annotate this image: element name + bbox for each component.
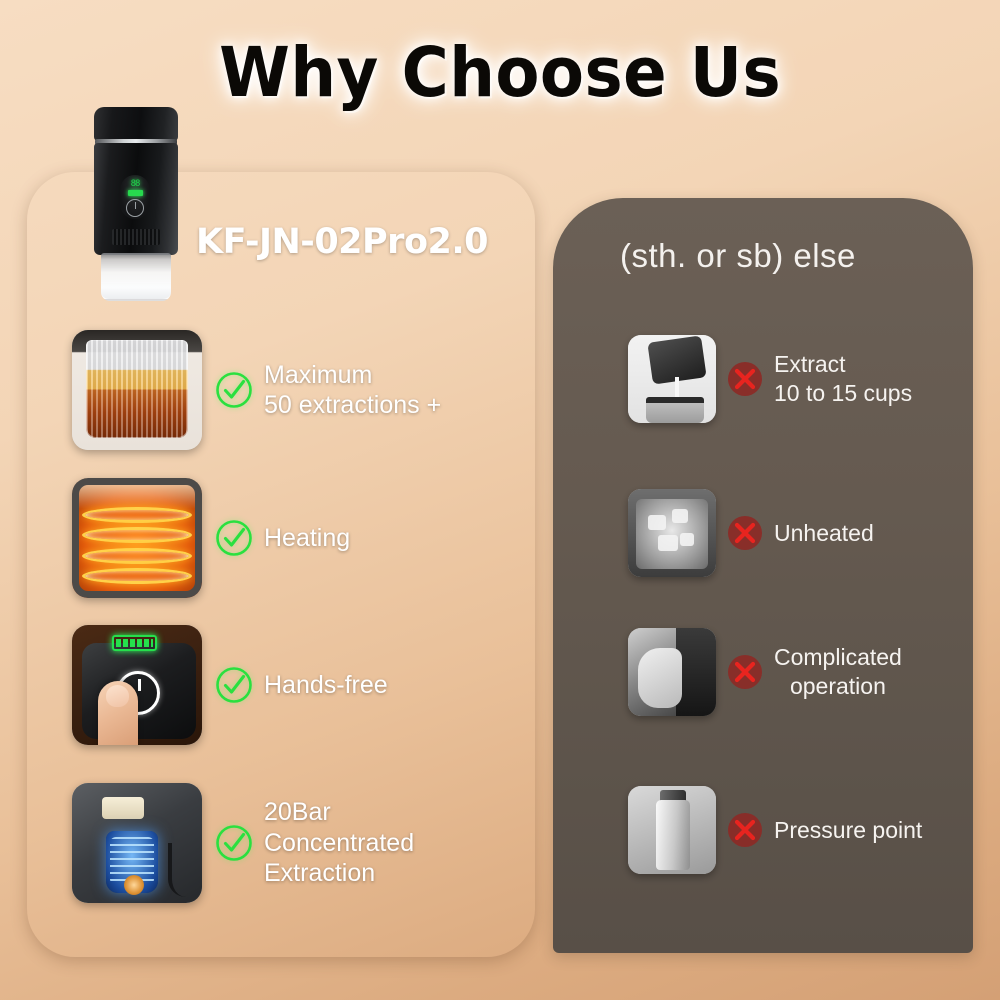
product-name: KF-JN-02Pro2.0 [196, 222, 488, 262]
page-title: Why Choose Us [0, 33, 1000, 113]
thumbnail-manual-pour-device [628, 335, 716, 423]
con-label: Complicated operation [774, 643, 902, 701]
con-label: Pressure point [774, 816, 922, 845]
thumbnail-hand-pressing-bottle [628, 786, 716, 874]
con-label-line: 10 to 15 cups [774, 379, 912, 408]
con-label-line: Unheated [774, 519, 874, 548]
thumbnail-layered-coffee-glass [72, 330, 202, 450]
con-label-line: Complicated [774, 643, 902, 672]
product-hero-image: 88 [88, 107, 184, 299]
pro-label-line: Maximum [264, 360, 441, 391]
con-label: Unheated [774, 519, 874, 548]
pro-label-line: Extraction [264, 858, 414, 889]
pro-label: 20Bar Concentrated Extraction [264, 797, 414, 889]
pro-row: Maximum 50 extractions + [72, 330, 522, 450]
cross-circle-icon [726, 514, 764, 552]
check-circle-icon [214, 665, 254, 705]
check-circle-icon [214, 518, 254, 558]
cross-circle-icon [726, 360, 764, 398]
con-row: Extract 10 to 15 cups [628, 335, 968, 423]
pro-row: 20Bar Concentrated Extraction [72, 783, 522, 903]
pro-label-line: 20Bar [264, 797, 414, 828]
con-row: Complicated operation [628, 628, 968, 716]
thumbnail-hand-operating-device [628, 628, 716, 716]
con-label-line: Pressure point [774, 816, 922, 845]
thumbnail-pressure-pump [72, 783, 202, 903]
con-label-line: operation [774, 672, 902, 701]
thumbnail-heating-coils [72, 478, 202, 598]
pro-label: Hands-free [264, 670, 388, 701]
con-row: Unheated [628, 489, 968, 577]
battery-icon [112, 635, 157, 651]
con-label-line: Extract [774, 350, 912, 379]
page-title-text: Why Choose Us [219, 33, 781, 113]
pro-label: Heating [264, 523, 350, 554]
con-label: Extract 10 to 15 cups [774, 350, 912, 408]
battery-icon [128, 190, 143, 196]
pro-label: Maximum 50 extractions + [264, 360, 441, 421]
power-button-icon [126, 199, 144, 217]
pro-row: Hands-free [72, 625, 522, 745]
pro-label-line: 50 extractions + [264, 390, 441, 421]
cross-circle-icon [726, 811, 764, 849]
pro-label-line: Concentrated [264, 828, 414, 859]
pro-row: Heating [72, 478, 522, 598]
thumbnail-power-button-finger [72, 625, 202, 745]
pro-label-line: Hands-free [264, 670, 388, 701]
competitor-name: (sth. or sb) else [620, 237, 856, 275]
product-display-digits: 88 [124, 179, 146, 189]
product-cap [94, 107, 178, 141]
con-row: Pressure point [628, 786, 968, 874]
check-circle-icon [214, 370, 254, 410]
cross-circle-icon [726, 653, 764, 691]
check-circle-icon [214, 823, 254, 863]
product-grip [112, 229, 160, 245]
pro-label-line: Heating [264, 523, 350, 554]
product-cup [101, 253, 171, 301]
thumbnail-cold-ice-glass [628, 489, 716, 577]
